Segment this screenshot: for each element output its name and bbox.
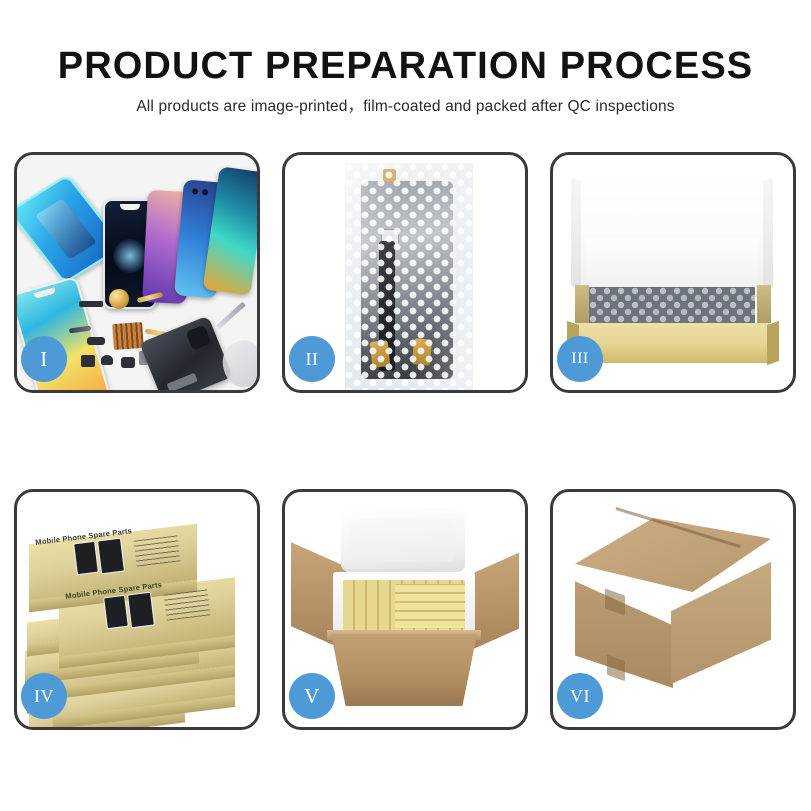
small-part (87, 337, 105, 345)
process-step-panel-1: I (14, 152, 260, 393)
gold-coil-part (109, 289, 129, 309)
process-step-panel-2: II (282, 152, 528, 393)
process-step-panel-5: V (282, 489, 528, 730)
box-product-image (103, 595, 129, 629)
header: PRODUCT PREPARATION PROCESS All products… (0, 0, 811, 117)
box-product-image (127, 592, 155, 629)
step-badge-3: III (557, 336, 603, 382)
product-preparation-infographic: PRODUCT PREPARATION PROCESS All products… (0, 0, 811, 811)
step-badge-2: II (289, 336, 335, 382)
bubble-wrap-bag (345, 163, 473, 390)
gold-box-base (575, 323, 771, 363)
small-part (121, 357, 135, 368)
process-step-panel-3: III (550, 152, 796, 393)
step-badge-4: IV (21, 673, 67, 719)
page-title: PRODUCT PREPARATION PROCESS (0, 0, 811, 88)
copper-grid-part (112, 322, 144, 350)
box-product-image (97, 538, 125, 575)
small-part (81, 355, 95, 367)
process-step-panel-6: VI (550, 489, 796, 730)
small-part (79, 301, 103, 307)
plastic-sheen (345, 163, 473, 390)
process-step-grid: I II (14, 152, 797, 752)
gold-boxes-inside (395, 584, 465, 628)
box-spec-text (164, 589, 211, 620)
step-badge-5: V (289, 673, 335, 719)
box-product-image (73, 541, 99, 575)
page-subtitle: All products are image-printed，film-coat… (0, 88, 811, 117)
box-spec-text (134, 535, 181, 566)
carton-front (331, 634, 477, 706)
foam-cooler-lid (341, 508, 465, 572)
step-badge-1: I (21, 336, 67, 382)
small-part (101, 355, 113, 365)
process-step-panel-4: Mobile Phone Spare Parts Mobile Phone Sp… (14, 489, 260, 730)
step-badge-6: VI (557, 673, 603, 719)
